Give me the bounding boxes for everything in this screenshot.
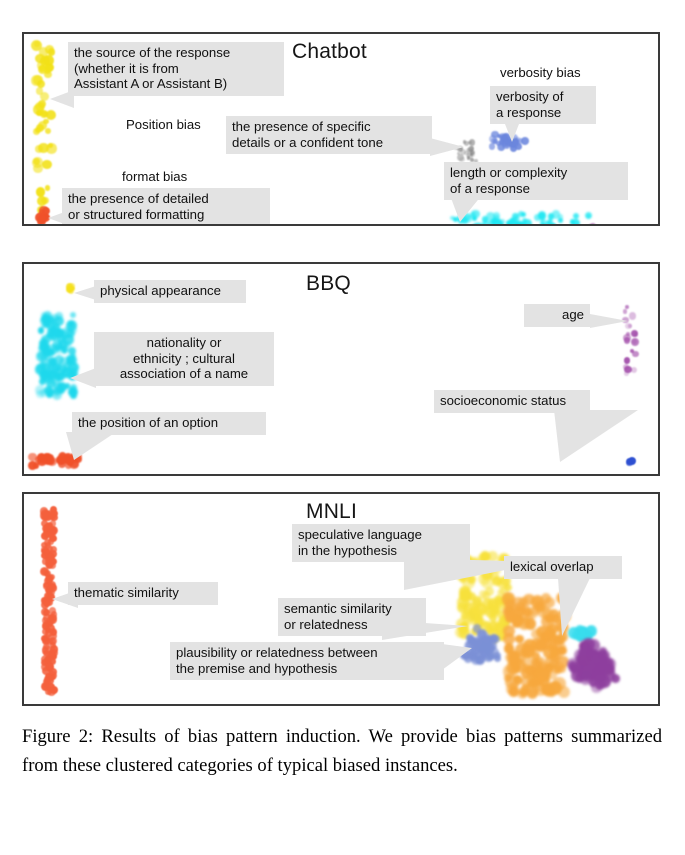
callout-semantic-similarity: semantic similarity or relatedness bbox=[278, 598, 426, 636]
tail-socioeconomic-status bbox=[554, 410, 638, 462]
cluster-mnli-orange bbox=[508, 598, 564, 694]
callout-physical-appearance: physical appearance bbox=[94, 280, 246, 303]
panel-title-mnli: MNLI bbox=[306, 500, 357, 524]
callout-age: age bbox=[524, 304, 590, 327]
callout-length-or-complexity: length or complexity of a response bbox=[444, 162, 628, 200]
tail-position-of-an-option bbox=[66, 432, 116, 460]
callout-lexical-overlap: lexical overlap bbox=[504, 556, 622, 579]
cluster-chatbot-purple bbox=[569, 224, 603, 226]
panel-title-bbq: BBQ bbox=[306, 272, 351, 296]
panel-mnli: MNLI thematic similarity speculative lan… bbox=[22, 492, 660, 706]
panel-title-chatbot: Chatbot bbox=[292, 40, 367, 64]
cluster-mnli-purple bbox=[562, 636, 622, 696]
callout-format-bias: format bias bbox=[116, 166, 193, 189]
tail-plausibility-or-relatedness bbox=[442, 644, 472, 670]
figure-caption: Figure 2: Results of bias pattern induct… bbox=[22, 722, 662, 780]
tail-age bbox=[590, 314, 628, 328]
callout-presence-of-specific-details: the presence of specific details or a co… bbox=[226, 116, 432, 154]
tail-nationality-or-ethnicity bbox=[70, 368, 96, 388]
callout-position-bias: Position bias bbox=[120, 114, 207, 137]
tail-lexical-overlap bbox=[558, 578, 590, 636]
callout-nationality-or-ethnicity: nationality or ethnicity ; cultural asso… bbox=[94, 332, 274, 386]
callout-verbosity-bias: verbosity bias bbox=[494, 62, 587, 85]
panel-bbq: BBQ physical appearance nationality or e… bbox=[22, 262, 660, 476]
callout-verbosity-of-a-response: verbosity of a response bbox=[490, 86, 596, 124]
figure-2: Chatbot the source of the response (whet… bbox=[0, 0, 685, 855]
callout-source-of-response: the source of the response (whether it i… bbox=[68, 42, 284, 96]
cluster-bbq-cyan bbox=[40, 314, 74, 396]
callout-speculative-language: speculative language in the hypothesis bbox=[292, 524, 470, 562]
callout-position-of-an-option: the position of an option bbox=[72, 412, 266, 435]
cluster-chatbot-yellow bbox=[36, 44, 52, 214]
tail-presence-of-specific-details bbox=[430, 138, 464, 156]
callout-socioeconomic-status: socioeconomic status bbox=[434, 390, 590, 413]
tail-physical-appearance bbox=[74, 286, 96, 300]
callout-plausibility-or-relatedness: plausibility or relatedness between the … bbox=[170, 642, 444, 680]
panel-chatbot: Chatbot the source of the response (whet… bbox=[22, 32, 660, 226]
callout-thematic-similarity: thematic similarity bbox=[68, 582, 218, 605]
callout-presence-of-detailed-formatting: the presence of detailed or structured f… bbox=[62, 188, 270, 226]
